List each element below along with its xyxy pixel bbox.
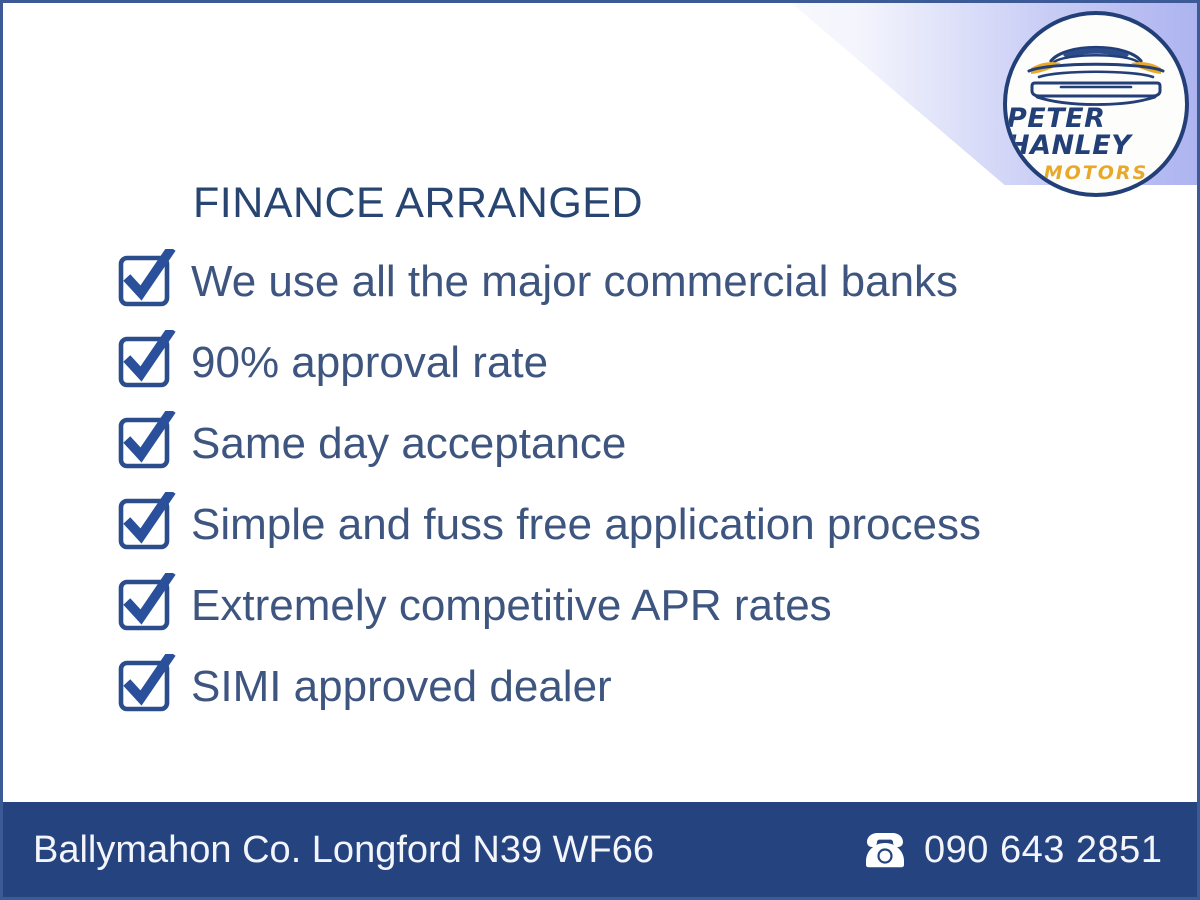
checkbox-checked-icon <box>111 492 177 558</box>
phone-number-text: 090 643 2851 <box>924 831 1162 869</box>
list-item-label: Same day acceptance <box>191 422 626 466</box>
list-item: 90% approval rate <box>111 322 1111 403</box>
contact-bar: Ballymahon Co. Longford N39 WF66 090 643… <box>3 802 1197 897</box>
checkbox-checked-icon <box>111 249 177 315</box>
list-item-label: Extremely competitive APR rates <box>191 584 832 628</box>
checkbox-checked-icon <box>111 573 177 639</box>
address-text: Ballymahon Co. Longford N39 WF66 <box>33 831 654 869</box>
telephone-icon <box>861 830 909 870</box>
logo-subtitle-text: MOTORS <box>1044 164 1149 183</box>
list-item: Simple and fuss free application process <box>111 484 1111 565</box>
list-item-label: We use all the major commercial banks <box>191 260 958 304</box>
checkbox-checked-icon <box>111 411 177 477</box>
benefits-list: We use all the major commercial banks 90… <box>111 241 1111 727</box>
phone-group[interactable]: 090 643 2851 <box>861 830 1162 870</box>
checkbox-checked-icon <box>111 654 177 720</box>
list-item: SIMI approved dealer <box>111 646 1111 727</box>
car-front-icon <box>1021 31 1171 107</box>
list-item-label: Simple and fuss free application process <box>191 503 981 547</box>
logo-name-text: PETER HANLEY <box>1007 105 1185 159</box>
page-title: FINANCE ARRANGED <box>193 179 643 228</box>
list-item: We use all the major commercial banks <box>111 241 1111 322</box>
list-item-label: 90% approval rate <box>191 341 548 385</box>
dealer-logo-badge[interactable]: PETER HANLEY MOTORS <box>1003 11 1189 197</box>
list-item-label: SIMI approved dealer <box>191 665 612 709</box>
finance-arranged-poster: PETER HANLEY MOTORS FINANCE ARRANGED We … <box>0 0 1200 900</box>
checkbox-checked-icon <box>111 330 177 396</box>
list-item: Same day acceptance <box>111 403 1111 484</box>
list-item: Extremely competitive APR rates <box>111 565 1111 646</box>
